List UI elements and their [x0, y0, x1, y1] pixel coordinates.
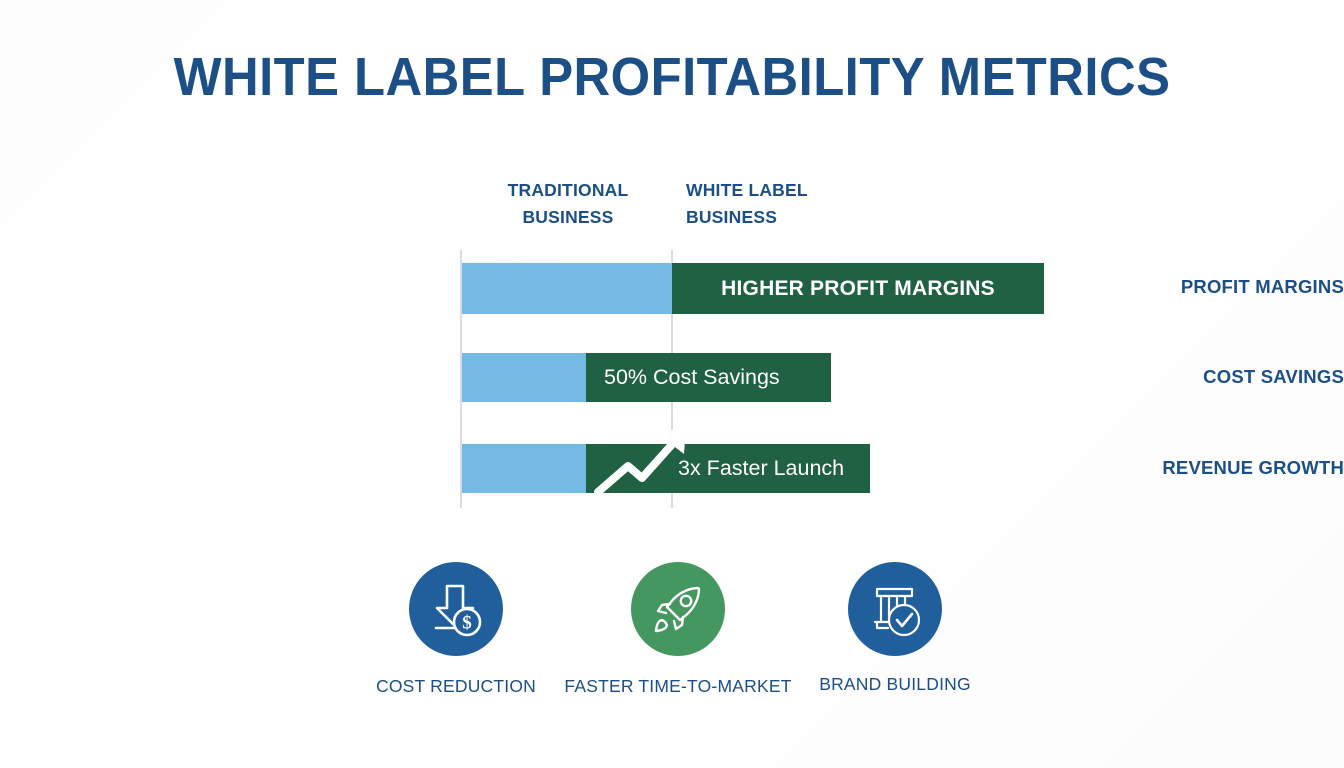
feature-circle-cost-reduction[interactable]: $: [409, 562, 503, 656]
bar-traditional-profit-margins: [462, 263, 672, 314]
bar-label-revenue-growth: 3x Faster Launch: [678, 444, 844, 493]
bar-label-cost-savings: 50% Cost Savings: [604, 353, 780, 402]
rocket-icon: [647, 578, 709, 640]
bar-label-profit-margins: HIGHER PROFIT MARGINS: [672, 263, 1044, 314]
bar-white-label-cost-savings: 50% Cost Savings: [586, 353, 831, 402]
feature-circle-brand-building[interactable]: [848, 562, 942, 656]
row-label-revenue-growth: REVENUE GROWTH: [913, 457, 1344, 479]
feature-caption-cost-reduction: COST REDUCTION: [356, 676, 556, 697]
infographic-canvas: WHITE LABEL PROFITABILITY METRICS TRADIT…: [0, 0, 1344, 768]
column-header-traditional-line2: BUSINESS: [468, 204, 668, 231]
column-header-traditional: TRADITIONAL BUSINESS: [468, 177, 668, 231]
feature-caption-faster-time-to-market: FASTER TIME-TO-MARKET: [558, 676, 798, 697]
feature-caption-brand-building: BRAND BUILDING: [795, 674, 995, 695]
column-header-traditional-line1: TRADITIONAL: [508, 180, 629, 200]
bar-white-label-revenue-growth: 3x Faster Launch: [586, 444, 870, 493]
brand-building-icon: [864, 578, 926, 640]
cost-reduction-icon: $: [425, 578, 487, 640]
column-header-white-label-line2: BUSINESS: [686, 204, 866, 231]
svg-text:$: $: [462, 613, 472, 634]
feature-circle-faster-time-to-market[interactable]: [631, 562, 725, 656]
bar-traditional-revenue-growth: [462, 444, 586, 493]
bar-white-label-profit-margins: HIGHER PROFIT MARGINS: [672, 263, 1044, 314]
column-header-white-label-line1: WHITE LABEL: [686, 180, 808, 200]
row-label-cost-savings: COST SAVINGS: [915, 366, 1344, 388]
column-header-white-label: WHITE LABEL BUSINESS: [686, 177, 866, 231]
bar-traditional-cost-savings: [462, 353, 586, 402]
